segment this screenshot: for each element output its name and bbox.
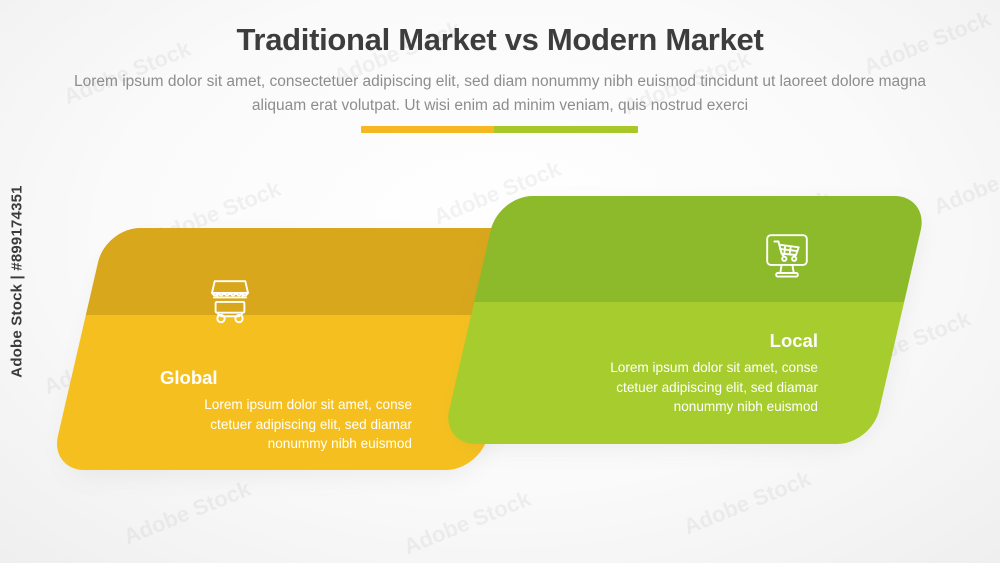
card-global-title: Global <box>160 367 218 389</box>
card-local[interactable]: Local Lorem ipsum dolor sit amet, conse … <box>441 196 928 444</box>
card-global-icon-band <box>50 228 536 315</box>
card-local-body: Lorem ipsum dolor sit amet, conse ctetue… <box>566 358 818 417</box>
card-local-title: Local <box>470 330 818 352</box>
infographic-canvas: Adobe Stock Adobe Stock Adobe Stock Adob… <box>0 0 1000 563</box>
cards-container: Global Lorem ipsum dolor sit amet, conse… <box>0 0 1000 563</box>
card-global-body: Lorem ipsum dolor sit amet, conse ctetue… <box>160 395 412 454</box>
market-stall-icon <box>203 274 257 328</box>
card-local-icon-band <box>441 196 928 302</box>
monitor-shopping-cart-icon <box>760 228 814 282</box>
